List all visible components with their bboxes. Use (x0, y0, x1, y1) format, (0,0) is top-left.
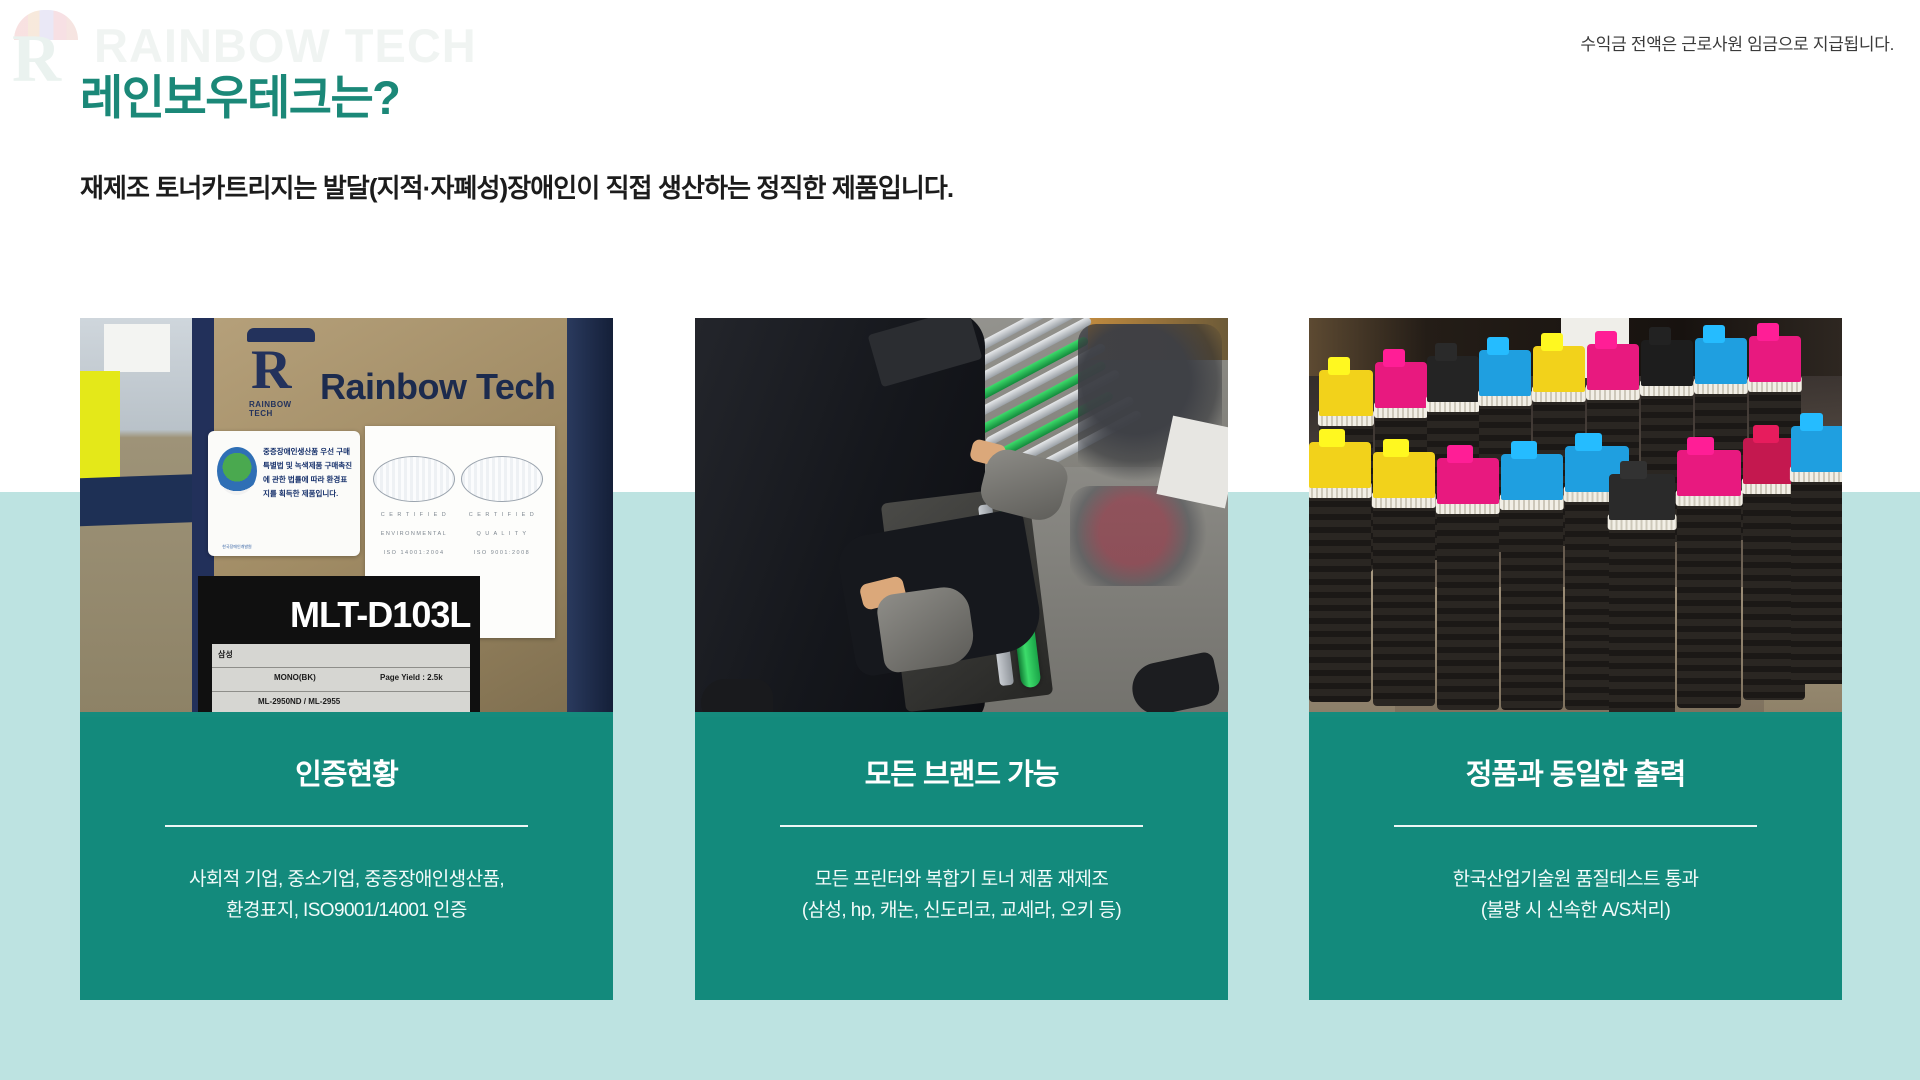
eco-label-text: 중증장애인생산품 우선 구매 특별법 및 녹색제품 구매촉진에 관한 법률에 따… (263, 445, 353, 501)
iso-globe-icon (373, 456, 455, 502)
card-line: (불량 시 신속한 A/S처리) (1453, 896, 1699, 927)
card-body: 정품과 동일한 출력 한국산업기술원 품질테스트 통과 (불량 시 신속한 A/… (1309, 717, 1842, 1000)
feature-card[interactable]: 정품과 동일한 출력 한국산업기술원 품질테스트 통과 (불량 시 신속한 A/… (1309, 318, 1842, 1000)
card-description: 모든 프린터와 복합기 토너 제품 재제조 (삼성, hp, 캐논, 신도리코,… (802, 865, 1121, 927)
feature-card[interactable]: 모든 브랜드 가능 모든 프린터와 복합기 토너 제품 재제조 (삼성, hp,… (695, 318, 1228, 1000)
product-label: MLT-D103L 삼성 MONO(BK) Page Yield : 2.5k … (198, 576, 480, 717)
profit-notice: 수익금 전액은 근로사원 임금으로 지급됩니다. (1580, 30, 1894, 55)
box-logo-icon: R RAINBOW TECH (245, 324, 317, 420)
letter-r-icon: R (12, 24, 61, 92)
page-subtitle: 재제조 토너카트리지는 발달(지적·자폐성)장애인이 직접 생산하는 정직한 제… (80, 168, 953, 205)
cmyk-cartridges-photo (1309, 318, 1842, 717)
page-root: R RAINBOW TECH 수익금 전액은 근로사원 임금으로 지급됩니다. … (0, 0, 1920, 1080)
card-line: (삼성, hp, 캐논, 신도리코, 교세라, 오키 등) (802, 896, 1121, 927)
card-line: 모든 프린터와 복합기 토너 제품 재제조 (802, 865, 1121, 896)
eco-seal-icon (217, 447, 257, 495)
product-code: MLT-D103L (290, 594, 470, 636)
card-description: 사회적 기업, 중소기업, 중증장애인생산품, 환경표지, ISO9001/14… (189, 865, 504, 927)
card-title: 모든 브랜드 가능 (865, 761, 1059, 790)
feature-card[interactable]: R RAINBOW TECH Rainbow Tech 한국장애인개발원 중증장… (80, 318, 613, 1000)
feature-card-list: R RAINBOW TECH Rainbow Tech 한국장애인개발원 중증장… (80, 318, 1842, 1000)
card-body: 모든 브랜드 가능 모든 프린터와 복합기 토너 제품 재제조 (삼성, hp,… (695, 717, 1228, 1000)
card-line: 한국산업기술원 품질테스트 통과 (1453, 865, 1699, 896)
card-divider (780, 825, 1143, 827)
iso-env-text: C E R T I F I E D (373, 510, 455, 521)
box-brand-text: Rainbow Tech (320, 366, 555, 408)
card-line: 환경표지, ISO9001/14001 인증 (189, 896, 504, 927)
card-title: 인증현황 (295, 761, 398, 790)
card-title: 정품과 동일한 출력 (1466, 761, 1686, 790)
card-divider (165, 825, 528, 827)
worker-assembly-photo (695, 318, 1228, 717)
toner-box-photo: R RAINBOW TECH Rainbow Tech 한국장애인개발원 중증장… (80, 318, 613, 717)
watermark-label: RAINBOW TECH (94, 18, 477, 73)
page-title: 레인보우테크는? (80, 72, 399, 124)
card-description: 한국산업기술원 품질테스트 통과 (불량 시 신속한 A/S처리) (1453, 865, 1699, 927)
iso-quality-text: C E R T I F I E D (461, 510, 543, 521)
card-body: 인증현황 사회적 기업, 중소기업, 중증장애인생산품, 환경표지, ISO90… (80, 717, 613, 1000)
card-line: 사회적 기업, 중소기업, 중증장애인생산품, (189, 865, 504, 896)
iso-globe-icon (461, 456, 543, 502)
card-divider (1394, 825, 1757, 827)
rainbow-arc-icon (14, 10, 78, 40)
eco-label: 한국장애인개발원 중증장애인생산품 우선 구매 특별법 및 녹색제품 구매촉진에… (208, 431, 360, 556)
logo-mark: R (8, 8, 86, 82)
